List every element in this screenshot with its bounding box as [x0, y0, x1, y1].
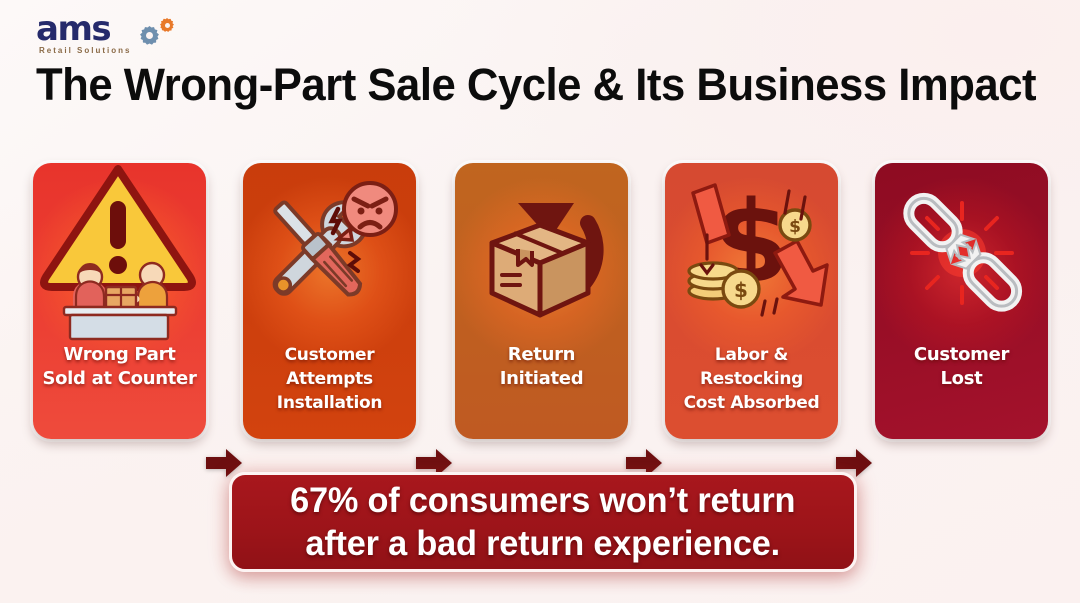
package-box-icon — [492, 225, 588, 315]
flow-step-return-initiated[interactable]: Return Initiated — [455, 163, 628, 439]
statistic-banner-line1: 67% of consumers won’t return — [290, 481, 795, 520]
flow-step-1-label-line1: Wrong Part — [63, 344, 175, 365]
return-package-icon — [462, 169, 622, 337]
flow-step-4-art: $ $ — [665, 163, 838, 343]
flow-step-2-label-line2: Attempts — [286, 369, 373, 389]
flow-step-1-art — [33, 163, 206, 343]
warning-and-counter-icon — [40, 165, 200, 341]
flow-step-5-label-line1: Customer — [914, 344, 1009, 365]
flow-step-4-label-line1: Labor & — [715, 345, 788, 365]
flow-step-5-label: Customer Lost — [875, 343, 1048, 391]
brand-wordmark: ams — [36, 12, 110, 46]
brand-logo: ams Retail Solutions — [36, 10, 226, 58]
flow-step-2-label-line1: Customer — [285, 345, 375, 365]
process-flow: Wrong Part Sold at Counter — [0, 163, 1080, 441]
warning-triangle-icon — [44, 169, 192, 287]
svg-text:$: $ — [734, 278, 748, 302]
statistic-banner-line2: after a bad return experience. — [290, 522, 795, 565]
break-burst-icon — [912, 203, 1012, 303]
flow-step-2-label-line3: Installation — [277, 393, 382, 413]
flow-step-2-art — [243, 163, 416, 343]
flow-step-3-label-line1: Return — [508, 344, 575, 365]
brand-tagline: Retail Solutions — [39, 46, 131, 55]
flow-step-5-art — [875, 163, 1048, 343]
page-title: The Wrong-Part Sale Cycle & Its Business… — [36, 60, 1025, 110]
flow-step-labor-restocking-cost[interactable]: $ $ — [665, 163, 838, 439]
statistic-banner: 67% of consumers won’t return after a ba… — [229, 472, 857, 572]
flow-step-5-label-line2: Lost — [941, 368, 983, 389]
flow-step-customer-attempts-installation[interactable]: Customer Attempts Installation — [243, 163, 416, 439]
tools-and-anger-icon — [250, 169, 410, 337]
flow-step-1-label: Wrong Part Sold at Counter — [33, 343, 206, 391]
flow-step-1-label-line2: Sold at Counter — [42, 368, 196, 389]
flow-step-3-art — [455, 163, 628, 343]
flow-step-wrong-part-sold[interactable]: Wrong Part Sold at Counter — [33, 163, 206, 439]
flow-step-3-label-line2: Initiated — [500, 368, 584, 389]
broken-chain-icon — [882, 169, 1042, 337]
gear-icon — [140, 26, 159, 45]
flow-step-3-label: Return Initiated — [455, 343, 628, 391]
flow-step-4-label-line2: Restocking — [700, 369, 803, 389]
angry-face-icon — [338, 183, 396, 240]
gear-small-icon — [160, 18, 174, 32]
cost-absorbed-icon: $ $ — [671, 169, 833, 337]
svg-text:$: $ — [789, 217, 801, 237]
flow-step-customer-lost[interactable]: Customer Lost — [875, 163, 1048, 439]
flow-step-4-label-line3: Cost Absorbed — [684, 393, 820, 413]
flow-step-4-label: Labor & Restocking Cost Absorbed — [665, 343, 838, 415]
statistic-banner-text: 67% of consumers won’t return after a ba… — [290, 479, 795, 565]
flow-step-2-label: Customer Attempts Installation — [243, 343, 416, 415]
